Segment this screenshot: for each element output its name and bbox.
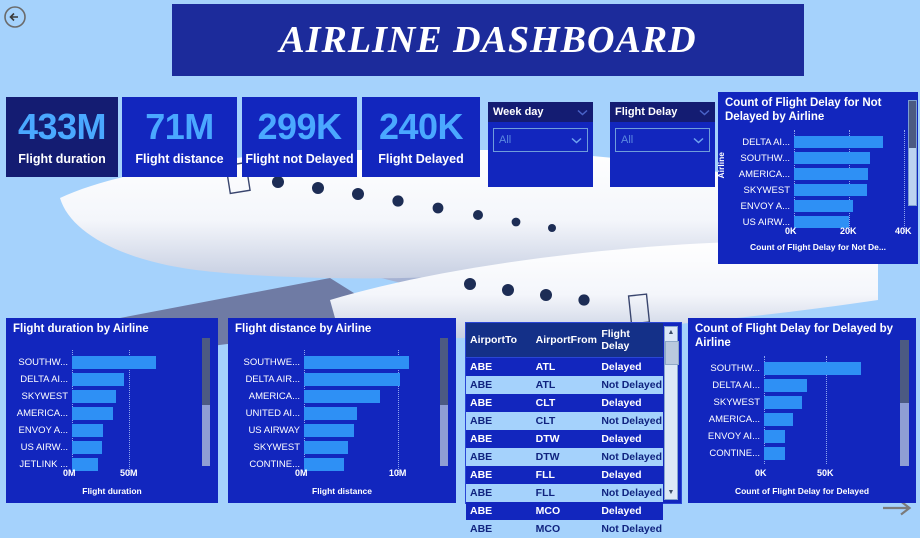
kpi-label: Flight not Delayed (245, 152, 353, 166)
chart-bar[interactable] (764, 413, 793, 426)
kpi-label: Flight duration (18, 152, 105, 166)
dashboard-title-banner: AIRLINE DASHBOARD (172, 4, 804, 76)
column-header-airport-to[interactable]: AirportTo (466, 323, 532, 358)
table-cell-airport-from: ATL (532, 358, 598, 377)
table-cell-airport-to: ABE (466, 466, 532, 484)
chart-scrollbar[interactable] (900, 340, 909, 466)
chevron-down-icon (571, 137, 582, 144)
table-row[interactable]: ABEFLLDelayed (466, 466, 663, 484)
table-cell-airport-from: MCO (532, 502, 598, 520)
table-cell-flight-delay: Delayed (597, 430, 663, 448)
back-navigation-button[interactable] (2, 4, 28, 30)
scroll-down-arrow-icon[interactable]: ▼ (665, 487, 677, 499)
page-title: AIRLINE DASHBOARD (279, 18, 696, 62)
scroll-up-arrow-icon[interactable]: ▲ (665, 327, 677, 339)
slicer-dropdown[interactable]: All (493, 128, 588, 152)
chart-category-label: SKYWEST (234, 442, 300, 453)
chart-category-label: SKYWEST (694, 397, 760, 408)
circle-left-arrow-icon (2, 4, 28, 30)
chart-flight-distance-by-airline[interactable]: Flight distance by Airline SOUTHWE...DEL… (228, 318, 456, 503)
table-cell-airport-to: ABE (466, 376, 532, 394)
scrollbar-thumb[interactable] (665, 341, 679, 365)
chart-delayed-by-airline[interactable]: Count of Flight Delay for Delayed by Air… (688, 318, 916, 503)
kpi-card-flight-delayed[interactable]: 240K Flight Delayed (362, 97, 480, 177)
table-cell-airport-from: FLL (532, 484, 598, 502)
table-scrollbar[interactable]: ▲ ▼ (664, 326, 678, 500)
chart-category-label: DELTA AI... (730, 137, 790, 148)
chart-bar[interactable] (794, 136, 883, 148)
chart-bar[interactable] (72, 424, 103, 437)
table-cell-airport-to: ABE (466, 448, 532, 466)
chart-category-label: ENVOY AI... (694, 431, 760, 442)
slicer-week-day[interactable]: Week day All (488, 102, 593, 187)
chart-category-label: SKYWEST (10, 391, 68, 402)
chart-category-label: SOUTHW... (730, 153, 790, 164)
chart-bar[interactable] (794, 152, 870, 164)
chart-tick-label: 50M (120, 468, 138, 478)
table-row[interactable]: ABEMCONot Delayed (466, 520, 663, 538)
slicer-flight-delay[interactable]: Flight Delay All (610, 102, 715, 187)
kpi-value: 240K (379, 109, 463, 145)
table-cell-airport-to: ABE (466, 430, 532, 448)
dashboard-canvas: AIRLINE DASHBOARD 433M Flight duration 7… (0, 0, 920, 526)
table-cell-flight-delay: Not Delayed (597, 412, 663, 430)
chart-y-axis-label: Airline (228, 372, 230, 398)
table-row[interactable]: ABEMCODelayed (466, 502, 663, 520)
column-header-flight-delay[interactable]: Flight Delay (597, 323, 663, 358)
chart-bar[interactable] (72, 356, 156, 369)
chart-plot-area: SOUTHWE...DELTA AIR...AMERICA...UNITED A… (228, 318, 456, 503)
kpi-card-flight-duration[interactable]: 433M Flight duration (6, 97, 118, 177)
chart-category-label: SOUTHW... (10, 357, 68, 368)
table-cell-airport-to: ABE (466, 394, 532, 412)
table-row[interactable]: ABECLTNot Delayed (466, 412, 663, 430)
chart-scrollbar[interactable] (440, 338, 448, 466)
scrollbar-thumb[interactable] (900, 340, 909, 403)
chevron-down-icon (577, 109, 588, 116)
table-cell-airport-from: FLL (532, 466, 598, 484)
slicer-header[interactable]: Week day (488, 102, 593, 122)
table-cell-flight-delay: Delayed (597, 502, 663, 520)
chart-bar[interactable] (72, 390, 116, 403)
table-row[interactable]: ABECLTDelayed (466, 394, 663, 412)
kpi-value: 71M (145, 109, 214, 145)
chart-category-label: CONTINE... (234, 459, 300, 470)
slicer-selected-value: All (621, 134, 633, 146)
chart-not-delayed-by-airline[interactable]: Count of Flight Delay for Not Delayed by… (718, 92, 918, 264)
chart-flight-duration-by-airline[interactable]: Flight duration by Airline SOUTHW...DELT… (6, 318, 218, 503)
chart-bar[interactable] (764, 430, 785, 443)
chevron-down-icon (699, 109, 710, 116)
chart-bar[interactable] (304, 424, 354, 437)
chart-category-label: ENVOY A... (10, 425, 68, 436)
chart-category-label: UNITED AI... (234, 408, 300, 419)
chart-gridline (904, 130, 905, 232)
slicer-header[interactable]: Flight Delay (610, 102, 715, 122)
table-cell-airport-to: ABE (466, 358, 532, 377)
chart-category-label: ENVOY A... (730, 201, 790, 212)
chart-bar[interactable] (304, 356, 409, 369)
chart-category-label: US AIRW... (10, 442, 68, 453)
chart-category-label: SOUTHWE... (234, 357, 300, 368)
table-row[interactable]: ABEDTWNot Delayed (466, 448, 663, 466)
chart-bar[interactable] (304, 441, 348, 454)
chart-bar[interactable] (72, 441, 102, 454)
chart-tick-label: 20K (840, 226, 857, 236)
table-cell-flight-delay: Delayed (597, 358, 663, 377)
chart-bar[interactable] (764, 396, 802, 409)
chart-category-label: AMERICA... (694, 414, 760, 425)
chart-bar[interactable] (764, 447, 785, 460)
chart-scrollbar[interactable] (202, 338, 210, 466)
chart-y-axis-label: Airline (718, 152, 726, 178)
kpi-label: Flight distance (135, 152, 223, 166)
chart-tick-label: 0M (295, 468, 308, 478)
chart-plot-area: SOUTHW...DELTA AI...SKYWESTAMERICA...ENV… (688, 318, 916, 503)
chart-category-label: AMERICA... (10, 408, 68, 419)
table-cell-airport-to: ABE (466, 484, 532, 502)
column-header-airport-from[interactable]: AirportFrom (532, 323, 598, 358)
slicer-selected-value: All (499, 134, 511, 146)
table-row[interactable]: ABEATLDelayed (466, 358, 663, 377)
chart-x-axis-label: Flight duration (6, 486, 218, 496)
kpi-card-flight-not-delayed[interactable]: 299K Flight not Delayed (242, 97, 357, 177)
table-cell-airport-from: CLT (532, 394, 598, 412)
slicer-dropdown[interactable]: All (615, 128, 710, 152)
chart-category-label: SOUTHW... (694, 363, 760, 374)
table-cell-flight-delay: Not Delayed (597, 484, 663, 502)
chart-bar[interactable] (794, 200, 853, 212)
chart-bar[interactable] (304, 407, 357, 420)
scrollbar-thumb[interactable] (909, 101, 916, 148)
table-cell-flight-delay: Not Delayed (597, 520, 663, 538)
chart-tick-label: 50K (817, 468, 834, 478)
chart-category-label: AMERICA... (234, 391, 300, 402)
chevron-down-icon (693, 137, 704, 144)
chart-bar[interactable] (794, 168, 868, 180)
table-cell-flight-delay: Not Delayed (597, 376, 663, 394)
table-cell-airport-from: DTW (532, 448, 598, 466)
table-cell-airport-from: ATL (532, 376, 598, 394)
table-row[interactable]: ABEFLLNot Delayed (466, 484, 663, 502)
chart-bar[interactable] (764, 362, 861, 375)
chart-tick-label: 0M (63, 468, 76, 478)
chart-x-axis-label: Count of Flight Delay for Delayed (688, 486, 916, 496)
chart-category-label: DELTA AI... (10, 374, 68, 385)
kpi-label: Flight Delayed (378, 152, 463, 166)
table-cell-airport-to: ABE (466, 502, 532, 520)
table-header-row: AirportTo AirportFrom Flight Delay (466, 323, 663, 358)
table-cell-flight-delay: Not Delayed (597, 448, 663, 466)
chart-category-label: CONTINE... (694, 448, 760, 459)
table-row[interactable]: ABEATLNot Delayed (466, 376, 663, 394)
chart-category-label: JETLINK ... (10, 459, 68, 470)
kpi-value: 299K (257, 109, 341, 145)
chart-plot-area: SOUTHW...DELTA AI...SKYWESTAMERICA...ENV… (6, 318, 218, 503)
chart-category-label: DELTA AI... (694, 380, 760, 391)
chart-category-label: SKYWEST (730, 185, 790, 196)
chart-tick-label: 0K (785, 226, 797, 236)
chart-bar[interactable] (304, 458, 344, 471)
chart-tick-label: 40K (895, 226, 912, 236)
chart-tick-label: 10M (389, 468, 407, 478)
chart-category-label: AMERICA... (730, 169, 790, 180)
chart-category-label: US AIRW... (730, 217, 790, 228)
kpi-card-flight-distance[interactable]: 71M Flight distance (122, 97, 237, 177)
slicer-title: Flight Delay (615, 106, 677, 118)
chart-bar[interactable] (72, 373, 124, 386)
table-cell-airport-from: MCO (532, 520, 598, 538)
chart-bar[interactable] (304, 373, 400, 386)
flight-delay-table[interactable]: AirportTo AirportFrom Flight Delay ABEAT… (465, 322, 682, 504)
table-cell-airport-to: ABE (466, 520, 532, 538)
chart-x-axis-label: Count of Flight Delay for Not De... (718, 242, 918, 252)
chart-bar[interactable] (764, 379, 807, 392)
chart-bar[interactable] (72, 407, 113, 420)
chart-bar[interactable] (72, 458, 98, 471)
scrollbar-thumb[interactable] (440, 338, 448, 405)
kpi-value: 433M (18, 109, 106, 145)
table-row[interactable]: ABEDTWDelayed (466, 430, 663, 448)
chart-category-label: DELTA AIR... (234, 374, 300, 385)
table-cell-flight-delay: Delayed (597, 466, 663, 484)
chart-bar[interactable] (794, 184, 867, 196)
table-cell-airport-to: ABE (466, 412, 532, 430)
table-cell-airport-from: DTW (532, 430, 598, 448)
chart-x-axis-label: Flight distance (228, 486, 456, 496)
chart-plot-area: DELTA AI...SOUTHW...AMERICA...SKYWESTENV… (718, 92, 918, 264)
slicer-title: Week day (493, 106, 544, 118)
chart-tick-label: 0K (755, 468, 767, 478)
table: AirportTo AirportFrom Flight Delay ABEAT… (466, 323, 663, 538)
scrollbar-thumb[interactable] (202, 338, 210, 405)
chart-y-axis-label: Airline (688, 378, 690, 404)
chart-category-label: US AIRWAY (234, 425, 300, 436)
table-cell-flight-delay: Delayed (597, 394, 663, 412)
table-cell-airport-from: CLT (532, 412, 598, 430)
table-body: ABEATLDelayedABEATLNot DelayedABECLTDela… (466, 358, 663, 538)
chart-scrollbar[interactable] (908, 100, 917, 206)
chart-bar[interactable] (304, 390, 380, 403)
